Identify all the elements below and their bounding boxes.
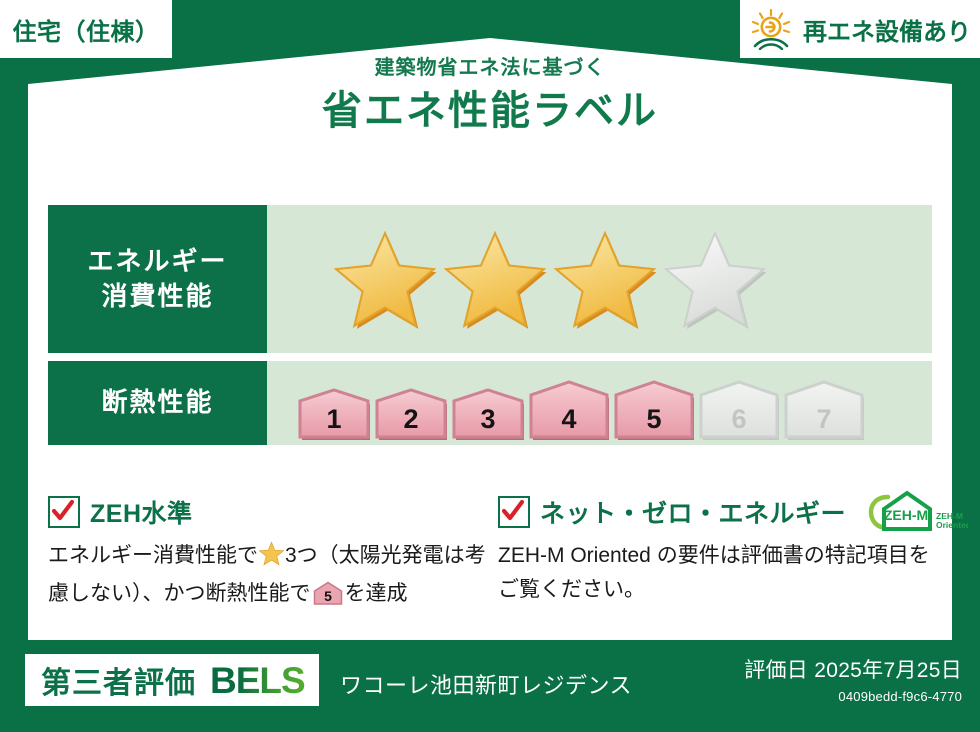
svg-text:5: 5 [646, 404, 661, 434]
energy-label-line2: 消費性能 [101, 279, 213, 314]
title-block: 建築物省エネ法に基づく 省エネ性能ラベル [0, 56, 980, 134]
criteria-section: ZEH水準 エネルギー消費性能で 3つ（太陽光発電は考慮しない）、かつ断熱性能で… [48, 495, 948, 616]
energy-performance-label: エネルギー 消費性能 [48, 205, 267, 353]
insulation-grade-inactive: 6 [698, 379, 780, 441]
insulation-label-text: 断熱性能 [101, 385, 213, 420]
net-zero-title: ネット・ゼロ・エネルギー [540, 494, 846, 530]
building-type-label: 住宅（住棟） [13, 12, 160, 47]
renewable-energy-label: 再エネ設備あり [803, 12, 971, 47]
insulation-grade-active: 3 [451, 387, 525, 441]
insulation-grade-active: 1 [297, 387, 371, 441]
svg-text:5: 5 [324, 588, 332, 604]
zeh-text-part1: エネルギー消費性能で [48, 544, 258, 567]
sun-renewable-energy-icon [749, 8, 793, 50]
energy-performance-row: エネルギー 消費性能 [48, 205, 932, 353]
zeh-standard-block: ZEH水準 エネルギー消費性能で 3つ（太陽光発電は考慮しない）、かつ断熱性能で… [48, 495, 488, 616]
net-zero-energy-block: ネット・ゼロ・エネルギー ZEH-M ZEH-M Oriented ZEH-M … [488, 495, 948, 616]
zeh-standard-heading: ZEH水準 [48, 495, 488, 529]
insulation-performance-row: 断熱性能 1234567 [48, 361, 932, 445]
zeh-standard-title: ZEH水準 [90, 494, 193, 530]
insulation-grade-inline-icon: 5 [313, 581, 343, 616]
evaluation-info: 評価日 2025年7月25日 0409bedd-f9c6-4770 [744, 654, 962, 704]
star-icon [259, 541, 284, 577]
footer: 第三者評価 BELS ワコーレ池田新町レジデンス 評価日 2025年7月25日 … [0, 640, 980, 732]
performance-rows: エネルギー 消費性能 断熱性能 1234567 [48, 205, 932, 445]
insulation-grade-inactive: 7 [783, 379, 865, 441]
svg-text:Oriented: Oriented [936, 520, 968, 530]
evaluation-date: 評価日 2025年7月25日 [744, 654, 962, 684]
zeh-standard-description: エネルギー消費性能で 3つ（太陽光発電は考慮しない）、かつ断熱性能で 5 を達成 [48, 539, 488, 616]
renewable-energy-badge: 再エネ設備あり [740, 0, 980, 58]
title-subtitle: 建築物省エネ法に基づく [0, 56, 980, 80]
check-icon [498, 496, 530, 528]
insulation-grade-active: 2 [374, 387, 448, 441]
bels-energy-label: 住宅（住棟） 再エネ設備あり [0, 0, 980, 732]
bels-logo: 第三者評価 BELS [25, 654, 319, 706]
energy-label-line1: エネルギー [87, 244, 227, 279]
building-name: ワコーレ池田新町レジデンス [340, 668, 632, 700]
star-filled-icon [333, 229, 437, 329]
star-filled-icon [553, 229, 657, 329]
bels-en-label: BELS [210, 662, 305, 699]
net-zero-heading: ネット・ゼロ・エネルギー ZEH-M ZEH-M Oriented [498, 495, 948, 529]
zeh-text-part3: を達成 [345, 582, 408, 605]
star-filled-icon [443, 229, 547, 329]
star-rating [267, 229, 767, 329]
building-type-badge: 住宅（住棟） [0, 0, 172, 58]
insulation-performance-value: 1234567 [267, 361, 932, 445]
insulation-grade-active: 5 [613, 379, 695, 441]
bels-jp-label: 第三者評価 [41, 658, 196, 702]
insulation-grade-scale: 1234567 [267, 357, 865, 450]
svg-text:7: 7 [816, 404, 831, 434]
svg-text:1: 1 [326, 404, 341, 434]
net-zero-description: ZEH-M Oriented の要件は評価書の特記項目をご覧ください。 [498, 539, 948, 607]
insulation-performance-label: 断熱性能 [48, 361, 267, 445]
evaluation-id: 0409bedd-f9c6-4770 [744, 689, 962, 704]
insulation-grade-active: 4 [528, 379, 610, 441]
svg-text:2: 2 [403, 404, 418, 434]
check-icon [48, 496, 80, 528]
svg-text:6: 6 [731, 404, 746, 434]
svg-text:3: 3 [480, 404, 495, 434]
svg-text:4: 4 [561, 404, 576, 434]
zeh-m-oriented-logo: ZEH-M ZEH-M Oriented [862, 489, 968, 535]
page-title: 省エネ性能ラベル [0, 88, 980, 134]
energy-performance-value [267, 205, 932, 353]
svg-text:ZEH-M: ZEH-M [884, 507, 928, 523]
star-empty-icon [663, 229, 767, 329]
